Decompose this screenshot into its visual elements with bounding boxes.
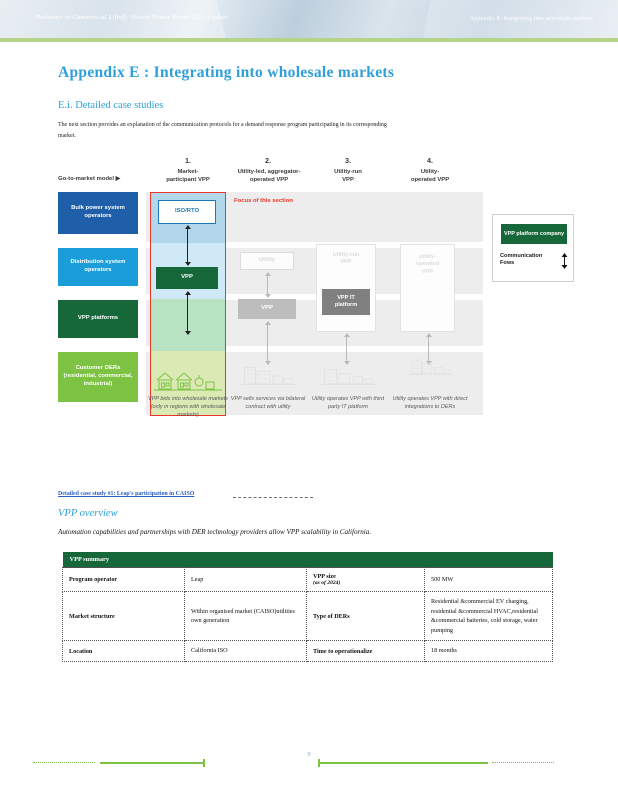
header-green-rule bbox=[0, 38, 618, 42]
legend-double-arrow-icon bbox=[561, 253, 568, 269]
page-footer-rule bbox=[0, 758, 618, 768]
footer-dotted-right bbox=[492, 762, 554, 763]
header-appendix-title: Appendix E: Integrating into wholesale m… bbox=[470, 15, 593, 22]
row-label-time-to-operationalize: Time to operationalize bbox=[307, 641, 425, 662]
footer-solid-left bbox=[100, 762, 205, 764]
column-caption-2: VPP sells services via bilateral contrac… bbox=[230, 396, 306, 412]
category-vpp-platforms: VPP platforms bbox=[58, 300, 138, 338]
vpp-overview-heading: VPP overview bbox=[58, 508, 118, 519]
column-label-2: Utility-led, aggregator- operated VPP bbox=[223, 169, 315, 185]
node-iso-rto: ISO/RTO bbox=[158, 200, 216, 224]
building-icons-col2 bbox=[234, 361, 304, 387]
footer-dotted-left bbox=[33, 762, 95, 763]
row-label-program-operator: Program operator bbox=[63, 568, 185, 592]
row-value-time-to-operationalize: 18 months bbox=[425, 641, 553, 662]
node-vpp-col1: VPP bbox=[156, 267, 218, 289]
legend-communication-flows-label: Communication Fows bbox=[500, 253, 556, 268]
footer-solid-right bbox=[318, 762, 488, 764]
row-value-market-structure: Within organised market (CAISO)utilities… bbox=[185, 592, 307, 641]
node-utility-run-vpp-label: Utility-run VPP bbox=[316, 252, 376, 267]
table-row: Location California ISO Time to operatio… bbox=[63, 641, 553, 662]
vpp-size-text: VPP size bbox=[313, 573, 336, 580]
column-number-2: 2. bbox=[230, 156, 306, 165]
arrow-vppit-to-ders bbox=[346, 334, 347, 364]
page-header-banner: Pathways to Commercial Liftoff: Virtual … bbox=[0, 0, 618, 38]
legend-vpp-platform-company: VPP platform company bbox=[501, 224, 567, 244]
arrow-iso-to-vpp bbox=[187, 226, 188, 265]
node-vpp-it-platform: VPP IT platform bbox=[322, 289, 370, 315]
house-icons-col1 bbox=[154, 368, 224, 394]
page-number: 9 bbox=[296, 752, 322, 758]
row-label-market-structure: Market structure bbox=[63, 592, 185, 641]
column-label-4: Utility- operated VPP bbox=[390, 169, 470, 185]
row-value-type-of-ders: Residential &commercial EV charging, res… bbox=[425, 592, 553, 641]
arrow-vpp-to-ders bbox=[187, 292, 188, 334]
focus-band-vpp-platforms bbox=[151, 299, 225, 351]
header-report-title: Pathways to Commercial Liftoff: Virtual … bbox=[36, 14, 228, 21]
intro-paragraph: The next section provides an explanation… bbox=[58, 120, 398, 142]
case-study-dashed-rule bbox=[233, 497, 313, 498]
category-customer-ders: Customer DERs (residential, commercial, … bbox=[58, 352, 138, 402]
column-number-4: 4. bbox=[392, 156, 468, 165]
row-label-vpp-size: VPP size (as of 2024) bbox=[307, 568, 425, 592]
node-utility-operated-vpp-label: utility- operated VPP bbox=[400, 254, 455, 276]
building-icons-col3 bbox=[314, 361, 384, 387]
case-study-link[interactable]: Detailed case study #1: Leap's participa… bbox=[58, 491, 194, 497]
category-bulk-power-operators: Bulk power system operators bbox=[58, 192, 138, 234]
go-to-market-diagram: Go-to-market model ▶ 1. 2. 3. 4. Market-… bbox=[58, 156, 563, 476]
column-label-3: Utility-run VPP bbox=[308, 169, 388, 185]
table-row: Program operator Leap VPP size (as of 20… bbox=[63, 568, 553, 592]
diagram-legend: VPP platform company Communication Fows bbox=[492, 214, 574, 282]
table-title: VPP summary bbox=[63, 552, 553, 568]
section-title: E.i. Detailed case studies bbox=[58, 100, 163, 111]
column-caption-1: VPP bids into wholesale markets (only in… bbox=[148, 396, 228, 420]
footer-tick-left bbox=[203, 759, 205, 767]
page-title: Appendix E : Integrating into wholesale … bbox=[58, 64, 394, 82]
arrow-utility-to-vpp-col2 bbox=[267, 273, 268, 297]
row-label-type-of-ders: Type of DERs bbox=[307, 592, 425, 641]
row-value-vpp-size: 500 MW bbox=[425, 568, 553, 592]
diagram-axis-label: Go-to-market model ▶ bbox=[58, 176, 158, 182]
vpp-size-asof-note: (as of 2024) bbox=[313, 580, 418, 586]
footer-tick-right bbox=[318, 759, 320, 767]
column-number-3: 3. bbox=[310, 156, 386, 165]
column-caption-4: Utility operates VPP with direct integra… bbox=[392, 396, 468, 412]
column-label-1: Market- participant VPP bbox=[148, 169, 228, 185]
vpp-overview-subtitle: Automation capabilities and partnerships… bbox=[58, 528, 528, 538]
vpp-summary-table: VPP summary Program operator Leap VPP si… bbox=[62, 552, 553, 662]
node-utility-col2: Utility bbox=[240, 252, 294, 270]
category-distribution-operators: Distribution system operators bbox=[58, 248, 138, 286]
row-value-program-operator: Leap bbox=[185, 568, 307, 592]
row-value-location: California ISO bbox=[185, 641, 307, 662]
table-row: Market structure Within organised market… bbox=[63, 592, 553, 641]
table-header-row: VPP summary bbox=[63, 552, 553, 568]
row-label-location: Location bbox=[63, 641, 185, 662]
building-icons-col4 bbox=[396, 354, 466, 380]
column-caption-3: Utility operates VPP with third party IT… bbox=[310, 396, 386, 412]
node-vpp-col2: VPP bbox=[238, 299, 296, 319]
focus-of-this-section-note: Focus of this section bbox=[234, 198, 296, 206]
column-number-1: 1. bbox=[150, 156, 226, 165]
arrow-vpp-to-ders-col2 bbox=[267, 322, 268, 364]
